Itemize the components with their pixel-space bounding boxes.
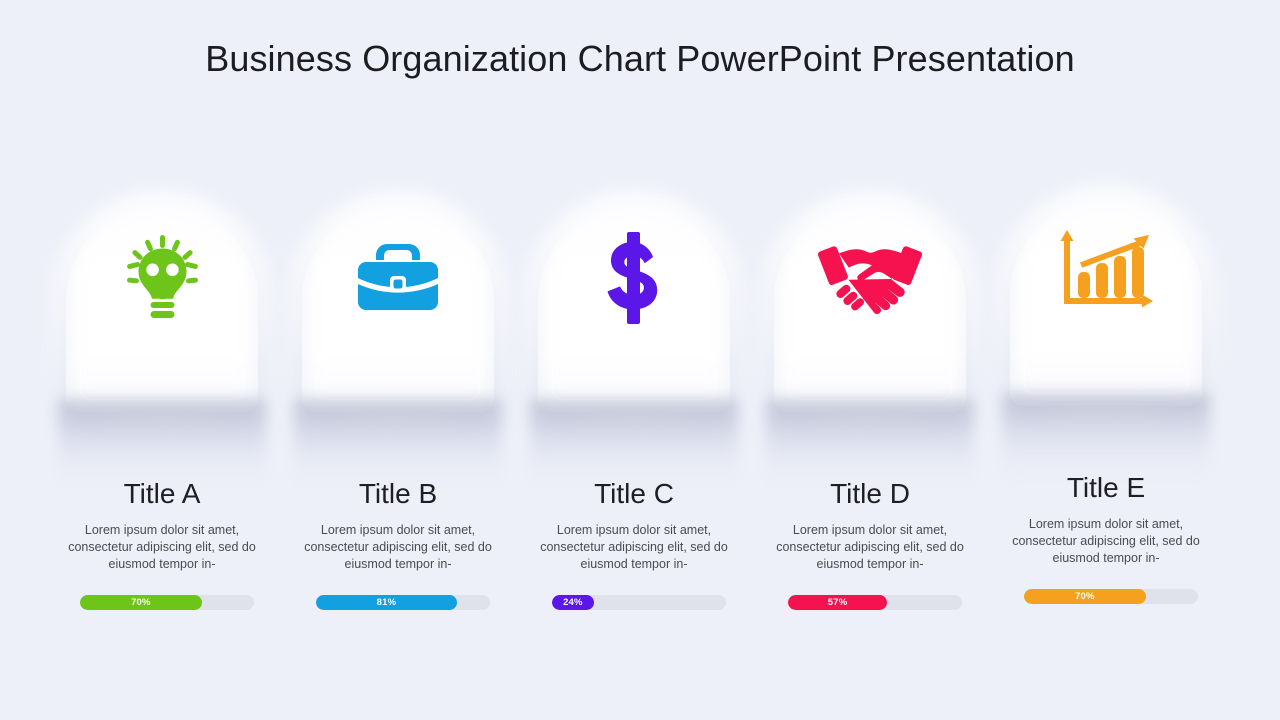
progress-percent-label: 70% — [131, 597, 151, 608]
progress-percent-label: 57% — [828, 597, 848, 608]
progress-percent-label: 70% — [1075, 591, 1095, 602]
card-description: Lorem ipsum dolor sit amet, consectetur … — [766, 522, 974, 573]
dollar-sign-icon — [516, 230, 752, 326]
progress-bar-track[interactable]: 70% — [1024, 589, 1198, 604]
cards-row: Title A Lorem ipsum dolor sit amet, cons… — [44, 178, 1240, 638]
card-title-e[interactable]: Title E Lorem ipsum dolor sit amet, cons… — [988, 172, 1224, 632]
card-title-d[interactable]: Title D Lorem ipsum dolor sit amet, cons… — [752, 178, 988, 638]
progress-bar-fill: 70% — [1024, 589, 1146, 604]
card-title-a[interactable]: Title A Lorem ipsum dolor sit amet, cons… — [44, 178, 280, 638]
card-title-b[interactable]: Title B Lorem ipsum dolor sit amet, cons… — [280, 178, 516, 638]
progress-percent-label: 24% — [563, 597, 583, 608]
card-title-label: Title A — [44, 478, 280, 510]
handshake-icon — [752, 230, 988, 326]
card-title-label: Title B — [280, 478, 516, 510]
card-title-label: Title D — [752, 478, 988, 510]
briefcase-icon — [280, 230, 516, 326]
lightbulb-icon — [44, 230, 280, 326]
page-title: Business Organization Chart PowerPoint P… — [0, 38, 1280, 80]
card-description: Lorem ipsum dolor sit amet, consectetur … — [530, 522, 738, 573]
progress-bar-track[interactable]: 24% — [552, 595, 726, 610]
card-description: Lorem ipsum dolor sit amet, consectetur … — [1002, 516, 1210, 567]
progress-percent-label: 81% — [377, 597, 397, 608]
progress-bar-track[interactable]: 57% — [788, 595, 962, 610]
card-description: Lorem ipsum dolor sit amet, consectetur … — [58, 522, 266, 573]
progress-bar-fill: 81% — [316, 595, 457, 610]
progress-bar-fill: 70% — [80, 595, 202, 610]
card-description: Lorem ipsum dolor sit amet, consectetur … — [294, 522, 502, 573]
card-title-label: Title C — [516, 478, 752, 510]
card-title-label: Title E — [988, 472, 1224, 504]
progress-bar-track[interactable]: 70% — [80, 595, 254, 610]
card-title-c[interactable]: Title C Lorem ipsum dolor sit amet, cons… — [516, 178, 752, 638]
progress-bar-track[interactable]: 81% — [316, 595, 490, 610]
progress-bar-fill: 24% — [552, 595, 594, 610]
growth-bar-chart-icon — [988, 224, 1224, 320]
progress-bar-fill: 57% — [788, 595, 887, 610]
